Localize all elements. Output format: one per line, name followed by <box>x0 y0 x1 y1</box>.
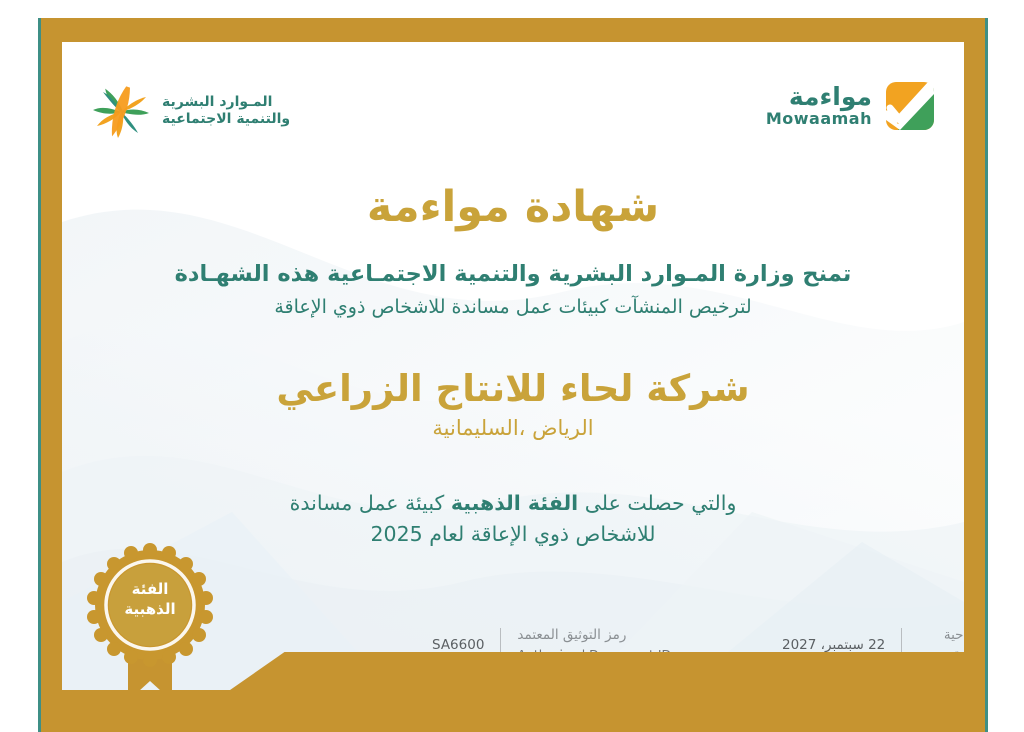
document-id-value: SA6600 <box>432 626 484 653</box>
document-validity-value: 22 سبتمبر، 2027 <box>782 626 885 653</box>
certificate-title: شهادة مواءمة <box>62 182 964 232</box>
ministry-wordmark: المـوارد البشرية والتنمية الاجتماعية <box>162 94 290 129</box>
document-validity-label-english: Document Validity <box>918 665 964 690</box>
company-block: شركة لحاء للانتاج الزراعي الرياض ،السليم… <box>62 367 964 439</box>
certificate-header: مواءمة Mowaamah <box>62 72 964 152</box>
category-emphasis: الفئة الذهبية <box>451 491 578 515</box>
ministry-name-line2: والتنمية الاجتماعية <box>162 111 290 129</box>
document-id-labels: رمز التوثيق المعتمد Authorized Document … <box>517 626 671 664</box>
document-id-label-english: Authorized Document ID <box>517 646 671 664</box>
document-validity-labels: صلاحية الوثيقة Document Validity <box>918 626 964 690</box>
document-validity-divider <box>901 628 902 662</box>
category-prefix: والتي حصلت على <box>578 491 736 515</box>
gold-category-medal-badge: الفئة الذهبية <box>80 543 220 708</box>
mowaamah-name-english: Mowaamah <box>766 111 872 128</box>
ministry-logo: المـوارد البشرية والتنمية الاجتماعية <box>90 82 290 140</box>
document-validity-group: صلاحية الوثيقة Document Validity 22 سبتم… <box>782 626 964 690</box>
ministry-palm-starburst-icon <box>90 82 152 140</box>
ministry-name-line1: المـوارد البشرية <box>162 94 272 112</box>
category-suffix: كبيئة عمل مساندة <box>290 491 451 515</box>
frame-teal-edge-left <box>38 18 41 732</box>
category-block: والتي حصلت على الفئة الذهبية كبيئة عمل م… <box>62 488 964 552</box>
frame-teal-edge-right <box>985 18 988 732</box>
certificate-body: شهادة مواءمة تمنح وزارة المـوارد البشرية… <box>62 182 964 551</box>
document-id-label-arabic: رمز التوثيق المعتمد <box>517 626 626 646</box>
document-id-divider <box>500 628 501 662</box>
certificate-page: مواءمة Mowaamah <box>0 0 1024 732</box>
grant-statement-line2: لترخيص المنشآت كبيئات عمل مساندة للاشخاص… <box>62 293 964 322</box>
document-validity-label-arabic: صلاحية الوثيقة <box>918 626 964 665</box>
mowaamah-wordmark: مواءمة Mowaamah <box>766 84 872 127</box>
mowaamah-checkmark-icon <box>884 80 936 132</box>
company-name: شركة لحاء للانتاج الزراعي <box>62 367 964 411</box>
mowaamah-name-arabic: مواءمة <box>789 84 872 110</box>
document-id-group: رمز التوثيق المعتمد Authorized Document … <box>432 626 671 664</box>
grant-statement-line1: تمنح وزارة المـوارد البشرية والتنمية الا… <box>62 258 964 291</box>
category-statement-line1: والتي حصلت على الفئة الذهبية كبيئة عمل م… <box>62 488 964 520</box>
mowaamah-logo: مواءمة Mowaamah <box>766 80 936 132</box>
company-location: الرياض ،السليمانية <box>62 416 964 440</box>
